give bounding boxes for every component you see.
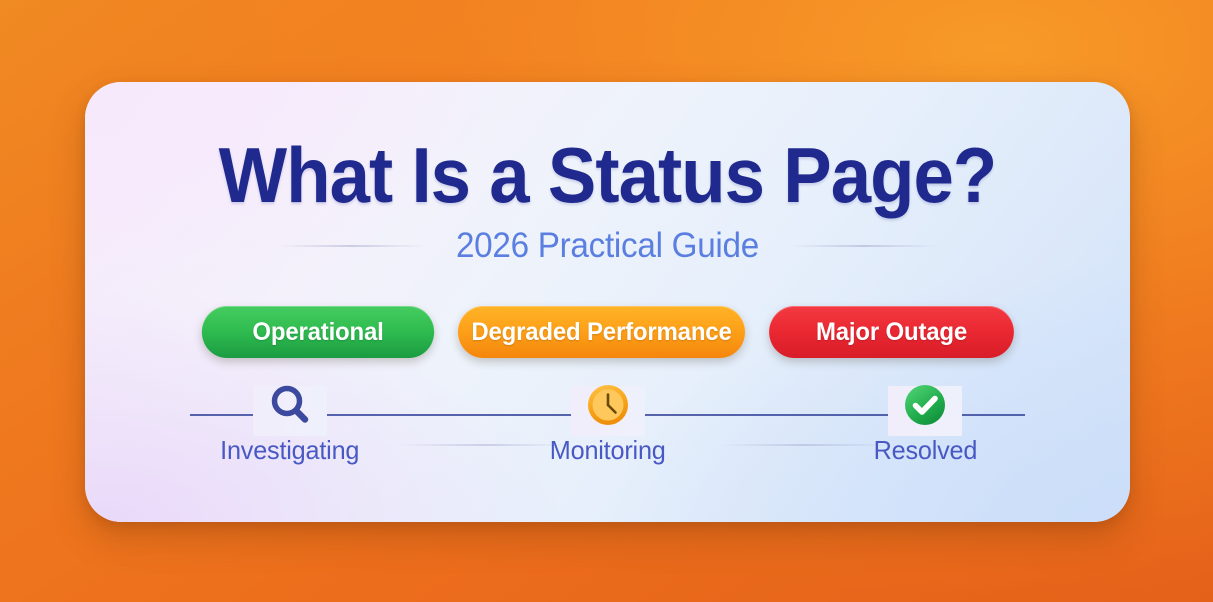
incident-timeline: Investigating bbox=[190, 382, 1025, 492]
timeline-step-label: Monitoring bbox=[550, 435, 666, 466]
timeline-step-label: Investigating bbox=[220, 435, 359, 466]
page-title: What Is a Status Page? bbox=[122, 136, 1094, 214]
subtitle-rule-right bbox=[789, 245, 939, 247]
clock-icon bbox=[585, 382, 631, 428]
page-subtitle: 2026 Practical Guide bbox=[456, 228, 759, 263]
check-circle-icon bbox=[902, 382, 948, 428]
subtitle-row: 2026 Practical Guide bbox=[85, 228, 1130, 263]
hero-card: What Is a Status Page? 2026 Practical Gu… bbox=[85, 82, 1130, 522]
timeline-step-resolved[interactable]: Resolved bbox=[825, 382, 1025, 466]
magnifier-icon bbox=[267, 382, 313, 428]
status-badge-major-outage[interactable]: Major Outage bbox=[769, 306, 1014, 358]
subtitle-rule-left bbox=[276, 245, 426, 247]
timeline-step-investigating[interactable]: Investigating bbox=[190, 382, 390, 466]
status-badge-operational[interactable]: Operational bbox=[201, 306, 433, 358]
timeline-step-monitoring[interactable]: Monitoring bbox=[508, 382, 708, 466]
status-badge-degraded-performance[interactable]: Degraded Performance bbox=[457, 306, 744, 358]
status-pill-group: Operational Degraded Performance Major O… bbox=[85, 306, 1130, 358]
timeline-step-label: Resolved bbox=[873, 435, 977, 466]
